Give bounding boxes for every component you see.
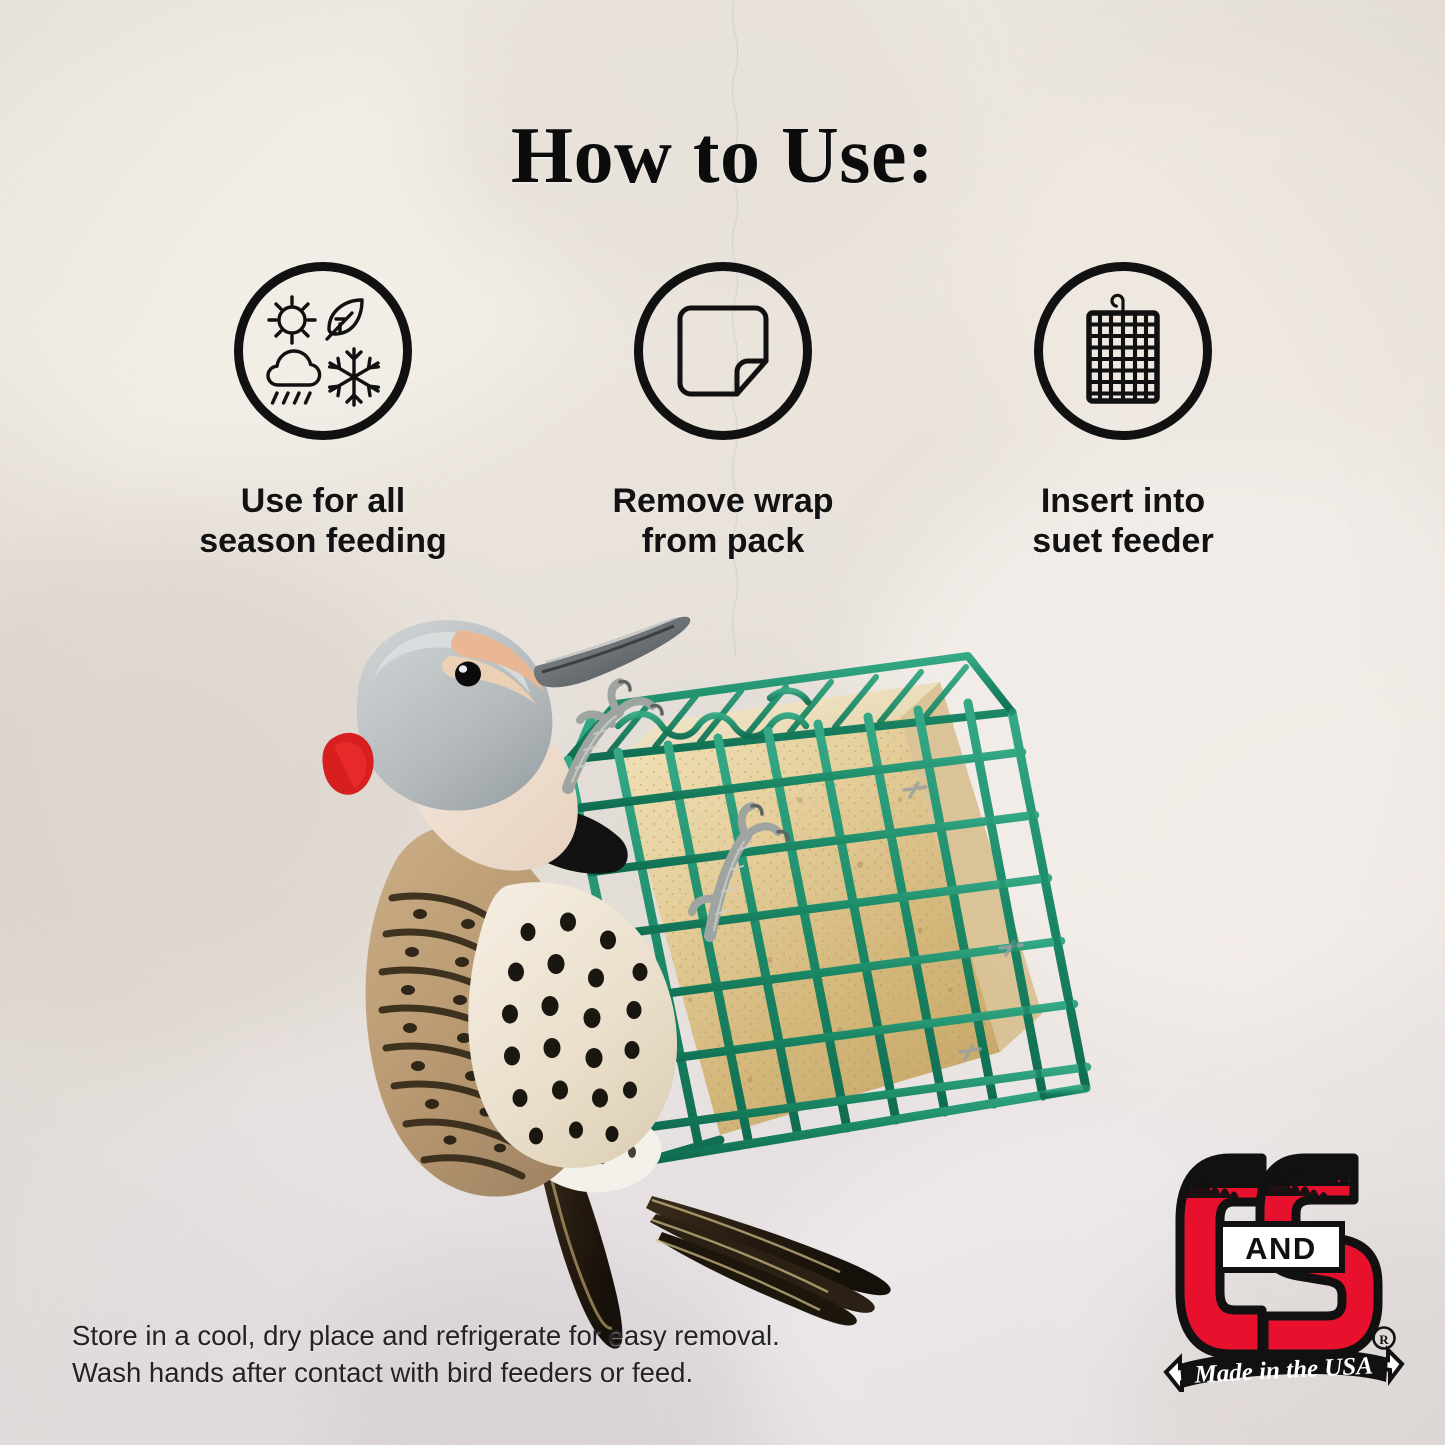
wire-mesh-grid — [1089, 313, 1157, 401]
step-caption: Remove wrap from pack — [612, 482, 833, 562]
logo-registered-mark: R — [1374, 1328, 1395, 1349]
storage-disclaimer: Store in a cool, dry place and refrigera… — [72, 1318, 780, 1391]
leaf-icon — [327, 300, 362, 339]
bird-bill — [534, 617, 690, 688]
sun-icon — [269, 297, 315, 343]
logo-made-in-usa-banner: Made in the USA — [1166, 1349, 1402, 1392]
bird-eye — [455, 662, 481, 687]
step-insert-into-suet-feeder: Insert into suet feeder — [968, 262, 1278, 562]
snowflake-icon — [330, 349, 379, 405]
peel-wrapper-icon — [634, 262, 812, 440]
step-caption: Insert into suet feeder — [1032, 482, 1213, 562]
how-to-use-steps: Use for all season feeding Remove wrap f… — [168, 262, 1278, 562]
step-caption: Use for all season feeding — [199, 482, 447, 562]
product-infographic: How to Use: — [0, 0, 1445, 1445]
svg-text:R: R — [1379, 1332, 1389, 1347]
step-remove-wrap-from-pack: Remove wrap from pack — [568, 262, 878, 562]
brand-logo-c-and-s: AND R Made in the USA — [1158, 1142, 1408, 1392]
bird-and-feeder-illustration — [300, 600, 1120, 1390]
logo-and-band: AND — [1220, 1224, 1342, 1270]
product-photo — [300, 600, 1120, 1390]
page-title: How to Use: — [0, 116, 1445, 196]
all-season-weather-icon — [234, 262, 412, 440]
rain-cloud-icon — [268, 351, 320, 403]
step-use-for-all-season-feeding: Use for all season feeding — [168, 262, 478, 562]
suet-cage-feeder-icon — [1034, 262, 1212, 440]
logo-and-text: AND — [1245, 1231, 1317, 1266]
